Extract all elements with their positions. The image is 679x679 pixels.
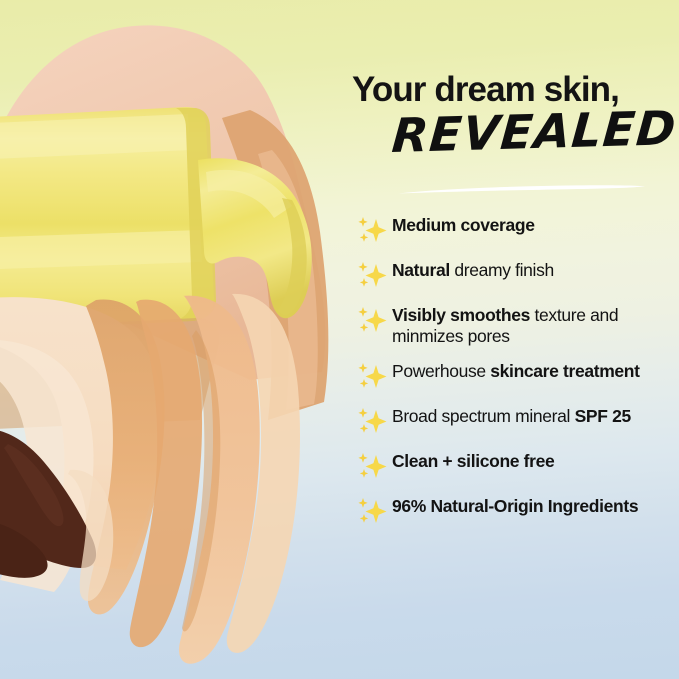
product-marketing-poster: Your dream skin, REVEALED Medium coverag… [0, 0, 679, 679]
sparkle-icon [356, 261, 392, 291]
feature-text: Broad spectrum mineral SPF 25 [392, 405, 679, 427]
sparkle-icon [356, 306, 392, 336]
feature-bold: Clean + silicone free [392, 451, 554, 471]
product-artwork [0, 0, 360, 679]
feature-item-medium-coverage: Medium coverage [356, 214, 679, 246]
feature-text: Clean + silicone free [392, 450, 679, 472]
sparkle-icon [356, 497, 392, 527]
sparkle-icon [356, 407, 392, 437]
feature-bold: skincare treatment [490, 361, 639, 381]
feature-text: 96% Natural-Origin Ingredients [392, 495, 679, 517]
feature-regular: Broad spectrum mineral [392, 406, 575, 426]
feature-regular: dreamy finish [450, 260, 554, 280]
feature-bold: Visibly smoothes [392, 305, 530, 325]
feature-item-visibly-smoothes: Visibly smoothes texture and minmizes po… [356, 304, 679, 347]
feature-bold: SPF 25 [575, 406, 631, 426]
feature-text: Visibly smoothes texture and minmizes po… [392, 304, 679, 347]
sparkle-icon [356, 362, 392, 392]
feature-item-powerhouse-skincare: Powerhouse skincare treatment [356, 360, 679, 392]
feature-list: Medium coverage Natural dreamy finish [356, 214, 679, 540]
feature-bold: Natural [392, 260, 450, 280]
feature-item-spf: Broad spectrum mineral SPF 25 [356, 405, 679, 437]
copy-block: Your dream skin, REVEALED [352, 72, 679, 161]
feature-item-natural-finish: Natural dreamy finish [356, 259, 679, 291]
sparkle-icon [356, 452, 392, 482]
sparkle-icon [356, 216, 392, 246]
feature-regular: Powerhouse [392, 361, 490, 381]
headline: Your dream skin, REVEALED [352, 72, 679, 161]
brush-stroke-underline [396, 184, 646, 195]
feature-text: Medium coverage [392, 214, 679, 236]
feature-item-clean-silicone-free: Clean + silicone free [356, 450, 679, 482]
feature-bold: Medium coverage [392, 215, 535, 235]
feature-bold: 96% Natural-Origin Ingredients [392, 496, 638, 516]
headline-line-2: REVEALED [390, 104, 679, 161]
feature-text: Powerhouse skincare treatment [392, 360, 679, 382]
feature-item-natural-origin: 96% Natural-Origin Ingredients [356, 495, 679, 527]
feature-text: Natural dreamy finish [392, 259, 679, 281]
